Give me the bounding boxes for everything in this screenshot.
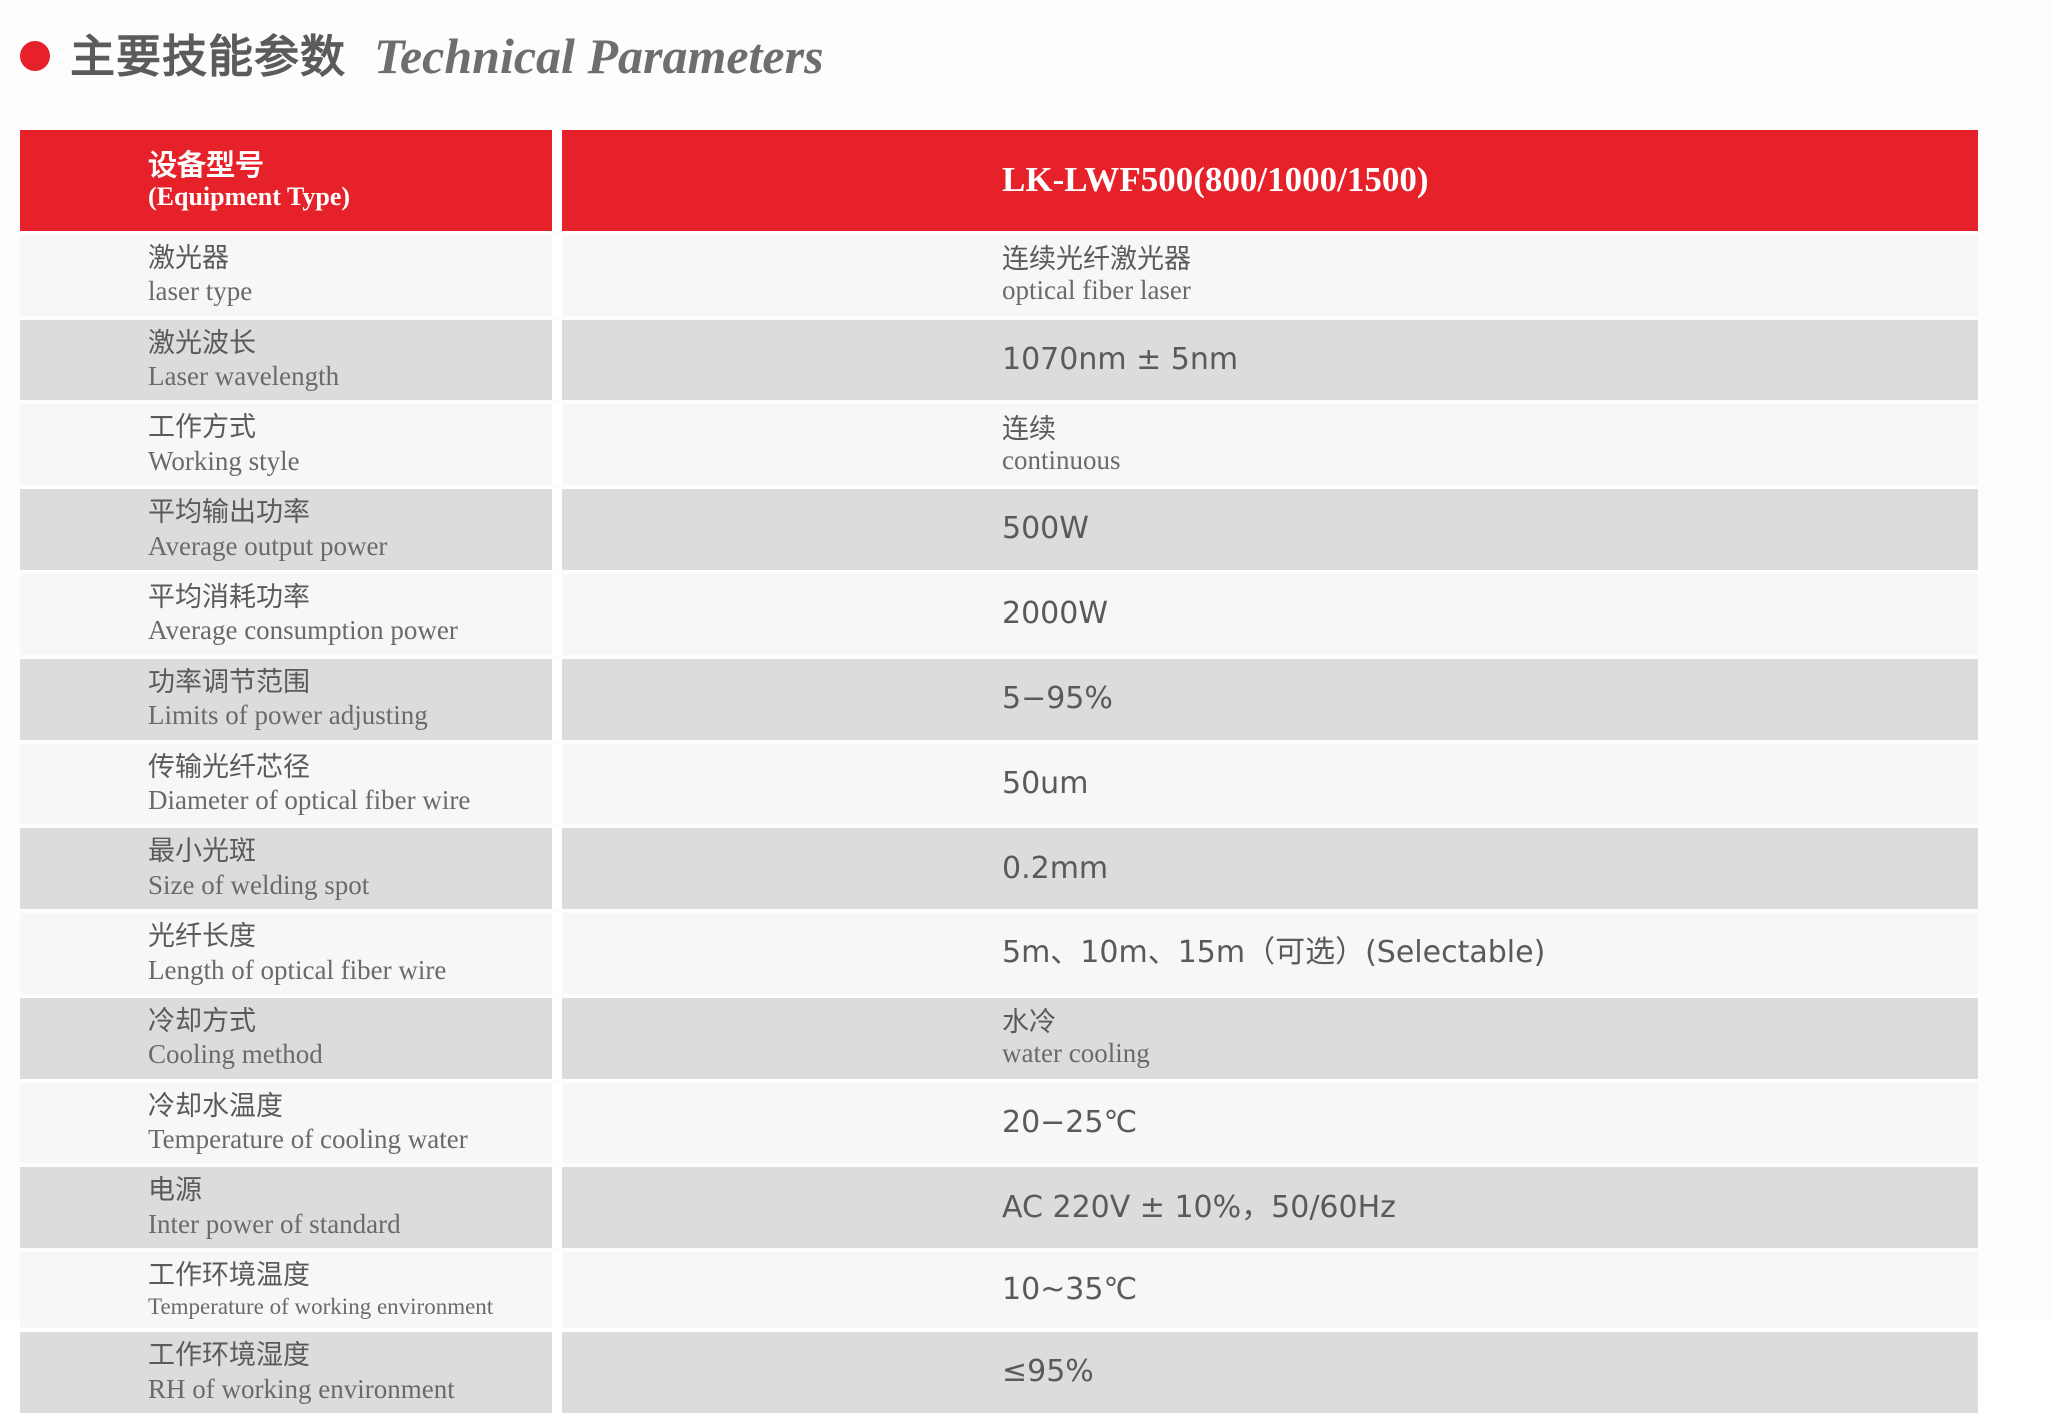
table-header-value-cell: LK-LWF500(800/1000/1500) xyxy=(562,130,1978,231)
row-label-cell: 工作方式 Working style xyxy=(20,404,552,485)
row-label-cn: 工作方式 xyxy=(148,412,552,444)
table-row: 光纤长度 Length of optical fiber wire 5m、10m… xyxy=(20,913,1978,994)
row-value-cell: 10~35℃ xyxy=(562,1252,1978,1328)
row-label-en: Length of optical fiber wire xyxy=(148,954,552,986)
row-value-cell: 50um xyxy=(562,744,1978,825)
table-row: 冷却水温度 Temperature of cooling water 20−25… xyxy=(20,1083,1978,1164)
table-row: 最小光斑 Size of welding spot 0.2mm xyxy=(20,828,1978,909)
bullet-dot-icon xyxy=(20,41,50,71)
column-divider xyxy=(552,913,562,994)
column-divider xyxy=(552,828,562,909)
table-row: 工作环境温度 Temperature of working environmen… xyxy=(20,1252,1978,1328)
row-value-cell: 0.2mm xyxy=(562,828,1978,909)
column-divider xyxy=(552,574,562,655)
table-row: 工作方式 Working style 连续 continuous xyxy=(20,404,1978,485)
row-label-cell: 最小光斑 Size of welding spot xyxy=(20,828,552,909)
row-label-en: Average consumption power xyxy=(148,614,552,646)
parameters-table: 设备型号 (Equipment Type) LK-LWF500(800/1000… xyxy=(20,130,1978,1417)
row-value-main: 500W xyxy=(1002,512,1978,547)
row-label-cn: 工作环境温度 xyxy=(148,1260,552,1292)
equipment-type-label-en: (Equipment Type) xyxy=(148,182,552,213)
row-value-en: water cooling xyxy=(1002,1038,1978,1069)
row-value-cell: 5m、10m、15m（可选）(Selectable) xyxy=(562,913,1978,994)
column-divider xyxy=(552,998,562,1079)
row-value-en: optical fiber laser xyxy=(1002,275,1978,306)
row-value-main: 5m、10m、15m（可选）(Selectable) xyxy=(1002,936,1978,971)
table-header-row: 设备型号 (Equipment Type) LK-LWF500(800/1000… xyxy=(20,130,1978,231)
row-label-cn: 工作环境湿度 xyxy=(148,1340,552,1372)
row-label-cn: 最小光斑 xyxy=(148,836,552,868)
column-divider xyxy=(552,320,562,401)
column-divider xyxy=(552,1252,562,1328)
row-label-en: Cooling method xyxy=(148,1038,552,1070)
row-value-cell: 水冷 water cooling xyxy=(562,998,1978,1079)
row-label-cell: 电源 Inter power of standard xyxy=(20,1167,552,1248)
row-value-cell: 1070nm ± 5nm xyxy=(562,320,1978,401)
column-divider xyxy=(552,235,562,316)
table-header-label-cell: 设备型号 (Equipment Type) xyxy=(20,130,552,231)
row-label-cn: 激光波长 xyxy=(148,328,552,360)
row-label-cn: 光纤长度 xyxy=(148,921,552,953)
row-value-cell: AC 220V ± 10%，50/60Hz xyxy=(562,1167,1978,1248)
row-label-cn: 平均消耗功率 xyxy=(148,582,552,614)
row-label-en: Limits of power adjusting xyxy=(148,699,552,731)
row-label-en: laser type xyxy=(148,275,552,307)
row-value-cn: 连续光纤激光器 xyxy=(1002,244,1978,275)
table-row: 平均消耗功率 Average consumption power 2000W xyxy=(20,574,1978,655)
row-value-main: 5−95% xyxy=(1002,682,1978,717)
row-label-cell: 传输光纤芯径 Diameter of optical fiber wire xyxy=(20,744,552,825)
row-label-en: Working style xyxy=(148,445,552,477)
row-label-cell: 平均消耗功率 Average consumption power xyxy=(20,574,552,655)
row-label-cell: 平均输出功率 Average output power xyxy=(20,489,552,570)
technical-parameters-page: 主要技能参数 Technical Parameters 设备型号 (Equipm… xyxy=(0,0,2051,1320)
row-value-cell: 连续 continuous xyxy=(562,404,1978,485)
row-label-en: Diameter of optical fiber wire xyxy=(148,784,552,816)
equipment-model: LK-LWF500(800/1000/1500) xyxy=(1002,161,1978,200)
table-row: 电源 Inter power of standard AC 220V ± 10%… xyxy=(20,1167,1978,1248)
row-value-en: continuous xyxy=(1002,445,1978,476)
column-divider xyxy=(552,1083,562,1164)
row-label-en: Temperature of cooling water xyxy=(148,1123,552,1155)
table-row: 功率调节范围 Limits of power adjusting 5−95% xyxy=(20,659,1978,740)
equipment-type-label-cn: 设备型号 xyxy=(148,148,552,182)
row-value-cn: 连续 xyxy=(1002,414,1978,445)
row-label-cn: 电源 xyxy=(148,1175,552,1207)
row-value-main: ≤95% xyxy=(1002,1355,1978,1390)
row-label-en: Inter power of standard xyxy=(148,1208,552,1240)
row-value-main: 2000W xyxy=(1002,597,1978,632)
table-row: 平均输出功率 Average output power 500W xyxy=(20,489,1978,570)
row-label-cn: 激光器 xyxy=(148,243,552,275)
column-divider xyxy=(552,489,562,570)
column-divider xyxy=(552,404,562,485)
row-label-cn: 功率调节范围 xyxy=(148,667,552,699)
column-divider xyxy=(552,744,562,825)
row-label-cn: 平均输出功率 xyxy=(148,497,552,529)
table-row: 工作环境湿度 RH of working environment ≤95% xyxy=(20,1332,1978,1413)
row-label-en: Temperature of working environment xyxy=(148,1293,552,1321)
page-title-en: Technical Parameters xyxy=(374,31,824,81)
row-value-cell: 5−95% xyxy=(562,659,1978,740)
row-value-cell: ≤95% xyxy=(562,1332,1978,1413)
table-row: 传输光纤芯径 Diameter of optical fiber wire 50… xyxy=(20,744,1978,825)
row-value-main: 1070nm ± 5nm xyxy=(1002,343,1978,378)
table-row: 冷却方式 Cooling method 水冷 water cooling xyxy=(20,998,1978,1079)
row-value-main: 50um xyxy=(1002,767,1978,802)
row-value-cell: 2000W xyxy=(562,574,1978,655)
page-title-cn: 主要技能参数 xyxy=(70,34,346,79)
column-divider xyxy=(552,130,562,231)
row-label-cn: 冷却方式 xyxy=(148,1006,552,1038)
row-label-en: Average output power xyxy=(148,530,552,562)
row-label-cell: 激光波长 Laser wavelength xyxy=(20,320,552,401)
row-value-cell: 20−25℃ xyxy=(562,1083,1978,1164)
row-label-cn: 冷却水温度 xyxy=(148,1091,552,1123)
row-label-cell: 激光器 laser type xyxy=(20,235,552,316)
row-value-cn: 水冷 xyxy=(1002,1007,1978,1038)
row-label-cn: 传输光纤芯径 xyxy=(148,752,552,784)
table-body: 激光器 laser type 连续光纤激光器 optical fiber las… xyxy=(20,235,1978,1413)
table-row: 激光波长 Laser wavelength 1070nm ± 5nm xyxy=(20,320,1978,401)
row-value-main: 20−25℃ xyxy=(1002,1106,1978,1141)
row-label-en: Size of welding spot xyxy=(148,869,552,901)
row-label-cell: 工作环境湿度 RH of working environment xyxy=(20,1332,552,1413)
column-divider xyxy=(552,1167,562,1248)
row-label-cell: 冷却方式 Cooling method xyxy=(20,998,552,1079)
row-value-cell: 连续光纤激光器 optical fiber laser xyxy=(562,235,1978,316)
row-value-cell: 500W xyxy=(562,489,1978,570)
column-divider xyxy=(552,1332,562,1413)
row-label-cell: 功率调节范围 Limits of power adjusting xyxy=(20,659,552,740)
column-divider xyxy=(552,659,562,740)
row-value-main: 10~35℃ xyxy=(1002,1273,1978,1308)
row-label-en: Laser wavelength xyxy=(148,360,552,392)
table-row: 激光器 laser type 连续光纤激光器 optical fiber las… xyxy=(20,235,1978,316)
page-title: 主要技能参数 Technical Parameters xyxy=(20,20,824,92)
row-label-cell: 工作环境温度 Temperature of working environmen… xyxy=(20,1252,552,1328)
row-label-cell: 冷却水温度 Temperature of cooling water xyxy=(20,1083,552,1164)
row-value-main: AC 220V ± 10%，50/60Hz xyxy=(1002,1191,1978,1226)
row-label-cell: 光纤长度 Length of optical fiber wire xyxy=(20,913,552,994)
row-value-main: 0.2mm xyxy=(1002,852,1978,887)
row-label-en: RH of working environment xyxy=(148,1373,552,1405)
